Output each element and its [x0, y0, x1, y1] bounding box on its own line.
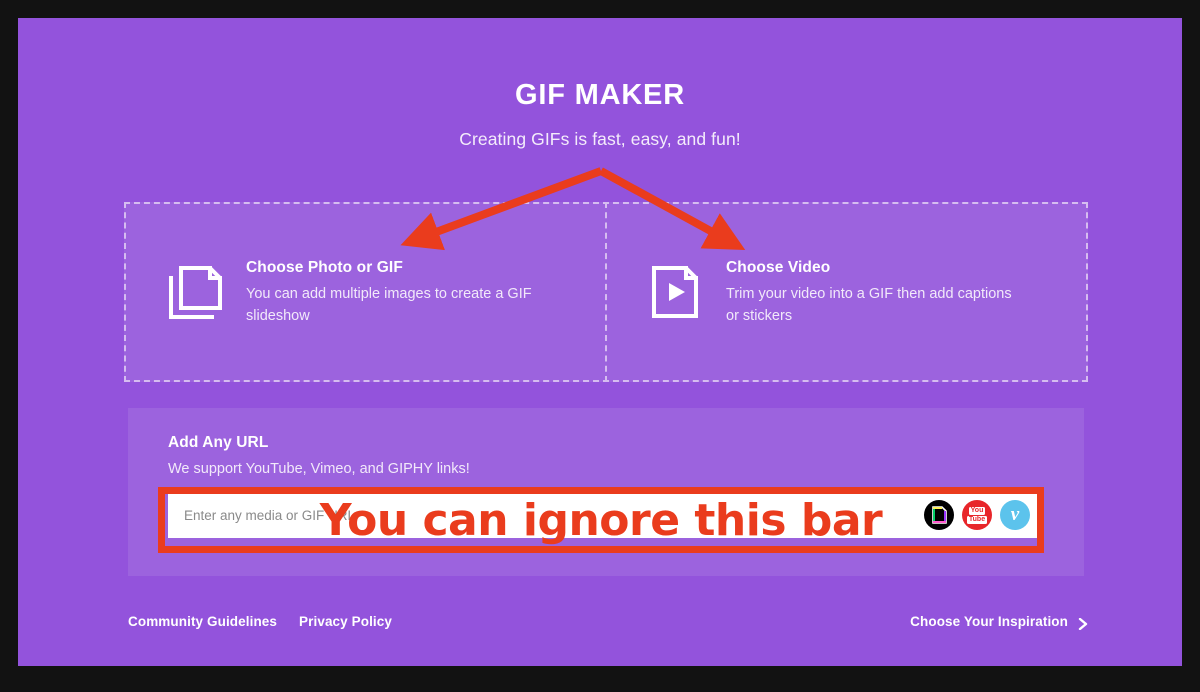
youtube-label-bottom: Tube	[967, 516, 987, 524]
choose-photo-or-gif-card[interactable]: Choose Photo or GIF You can add multiple…	[126, 204, 606, 380]
choose-video-text: Choose Video Trim your video into a GIF …	[726, 257, 1026, 327]
community-guidelines-link[interactable]: Community Guidelines	[128, 614, 277, 629]
choose-photo-text: Choose Photo or GIF You can add multiple…	[246, 257, 546, 327]
vimeo-icon[interactable]: v	[1000, 500, 1030, 530]
choose-video-title: Choose Video	[726, 259, 1026, 277]
page-header: GIF MAKER Creating GIFs is fast, easy, a…	[18, 18, 1182, 150]
add-any-url-panel: Add Any URL We support YouTube, Vimeo, a…	[128, 408, 1084, 576]
add-any-url-subtitle: We support YouTube, Vimeo, and GIPHY lin…	[168, 461, 1044, 477]
youtube-label-top: You	[969, 507, 986, 515]
add-any-url-title: Add Any URL	[168, 434, 1044, 452]
choose-photo-desc: You can add multiple images to create a …	[246, 283, 546, 327]
stacked-photos-icon	[168, 264, 226, 320]
choose-your-inspiration-label: Choose Your Inspiration	[910, 614, 1068, 629]
gif-maker-page: GIF MAKER Creating GIFs is fast, easy, a…	[18, 18, 1182, 666]
footer: Community Guidelines Privacy Policy Choo…	[128, 614, 1088, 629]
giphy-icon[interactable]	[924, 500, 954, 530]
url-input-row[interactable]: You Tube v	[168, 492, 1044, 538]
choose-photo-title: Choose Photo or GIF	[246, 259, 546, 277]
page-title: GIF MAKER	[18, 80, 1182, 112]
supported-services: You Tube v	[924, 500, 1030, 530]
youtube-icon[interactable]: You Tube	[962, 500, 992, 530]
privacy-policy-link[interactable]: Privacy Policy	[299, 614, 392, 629]
choose-video-card[interactable]: Choose Video Trim your video into a GIF …	[606, 204, 1086, 380]
chevron-right-icon	[1078, 617, 1088, 627]
footer-links: Community Guidelines Privacy Policy	[128, 614, 392, 629]
page-subtitle: Creating GIFs is fast, easy, and fun!	[18, 129, 1182, 150]
url-input[interactable]	[184, 508, 924, 523]
video-file-play-icon	[648, 264, 706, 320]
upload-choices-panel: Choose Photo or GIF You can add multiple…	[124, 202, 1088, 382]
screenshot-root: GIF MAKER Creating GIFs is fast, easy, a…	[0, 0, 1200, 692]
choose-your-inspiration-link[interactable]: Choose Your Inspiration	[910, 614, 1088, 629]
choose-video-desc: Trim your video into a GIF then add capt…	[726, 283, 1026, 327]
